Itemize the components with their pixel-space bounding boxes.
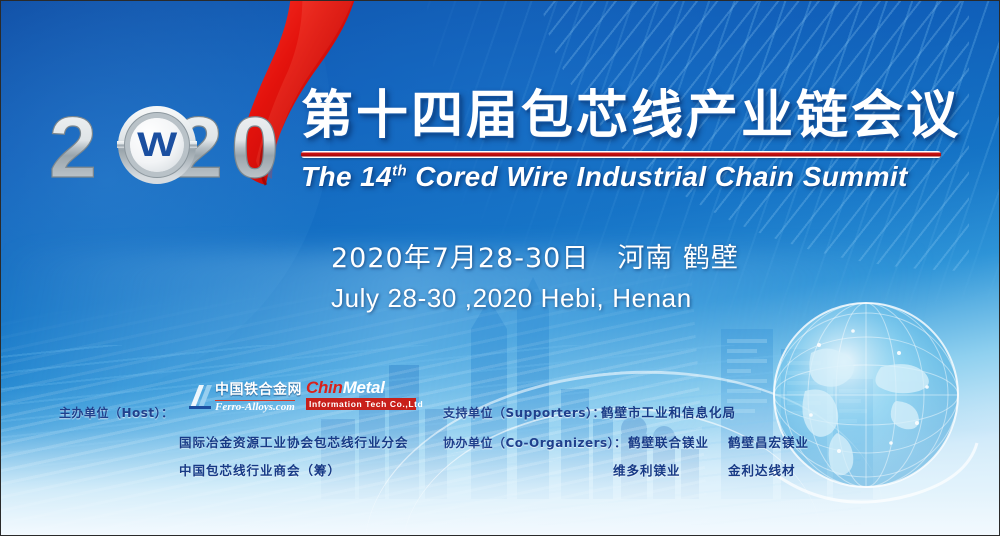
ferro-alloys-en-name: Ferro-Alloys.com	[215, 400, 295, 413]
supporters-label: 支持单位（Supporters）：	[443, 407, 605, 419]
chinmetal-logo: ChinMetal Information Tech Co.,Ltd	[306, 379, 416, 413]
title-en-ordinal: th	[392, 163, 407, 180]
title-en-rest: Cored Wire Industrial Chain Summit	[407, 161, 908, 192]
ferro-alloys-mark-icon	[187, 382, 213, 412]
page-title-chinese: 第十四届包芯线产业链会议	[301, 89, 941, 144]
svg-text:2: 2	[49, 101, 97, 187]
chinmetal-word-chin: Chin	[306, 378, 343, 397]
supporters-org: 鹤壁市工业和信息化局	[601, 407, 736, 420]
sponsors-block: 主办单位（Host）： 国际冶金资源工业协会包芯线行业分会 中国包芯线行业商会（…	[1, 387, 1000, 497]
w-logo-letter: W	[138, 128, 177, 162]
ferro-alloys-logo: 中国铁合金网 Ferro-Alloys.com	[187, 381, 293, 415]
chinmetal-wordmark: ChinMetal	[306, 379, 416, 396]
co-organizer-1: 鹤壁联合镁业	[628, 437, 709, 450]
co-organizer-4: 金利达线材	[728, 465, 796, 478]
host-label: 主办单位（Host）：	[59, 407, 174, 419]
w-logo-mark: W	[130, 118, 184, 172]
event-date-english: July 28-30 ,2020 Hebi, Henan	[331, 281, 891, 316]
ferro-alloys-cn-name: 中国铁合金网	[215, 383, 302, 397]
host-org-1: 国际冶金资源工业协会包芯线行业分会	[179, 437, 409, 450]
co-organizer-2: 鹤壁昌宏镁业	[728, 437, 809, 450]
title-divider-rule	[301, 151, 941, 158]
event-date-chinese: 2020年7月28-30日 河南 鹤壁	[331, 241, 891, 277]
title-block: 第十四届包芯线产业链会议 The 14th Cored Wire Industr…	[301, 89, 941, 193]
event-datetime-block: 2020年7月28-30日 河南 鹤壁 July 28-30 ,2020 Heb…	[331, 241, 891, 317]
conference-banner: 2 2 0 W 第十四届包芯线产业链会议 The 14th Cored Wire…	[0, 0, 1000, 536]
svg-text:0: 0	[231, 101, 279, 187]
co-organizers-label: 协办单位（Co-Organizers）：	[443, 437, 627, 449]
page-title-english: The 14th Cored Wire Industrial Chain Sum…	[301, 162, 941, 193]
host-org-2: 中国包芯线行业商会（筹）	[179, 465, 341, 478]
year-logo-2020: 2 2 0 W	[49, 101, 309, 187]
co-organizer-3: 维多利镁业	[613, 465, 681, 478]
chinmetal-subtitle: Information Tech Co.,Ltd	[306, 398, 416, 410]
title-en-prefix: The 14	[301, 161, 392, 192]
chinmetal-word-metal: Metal	[343, 378, 385, 397]
